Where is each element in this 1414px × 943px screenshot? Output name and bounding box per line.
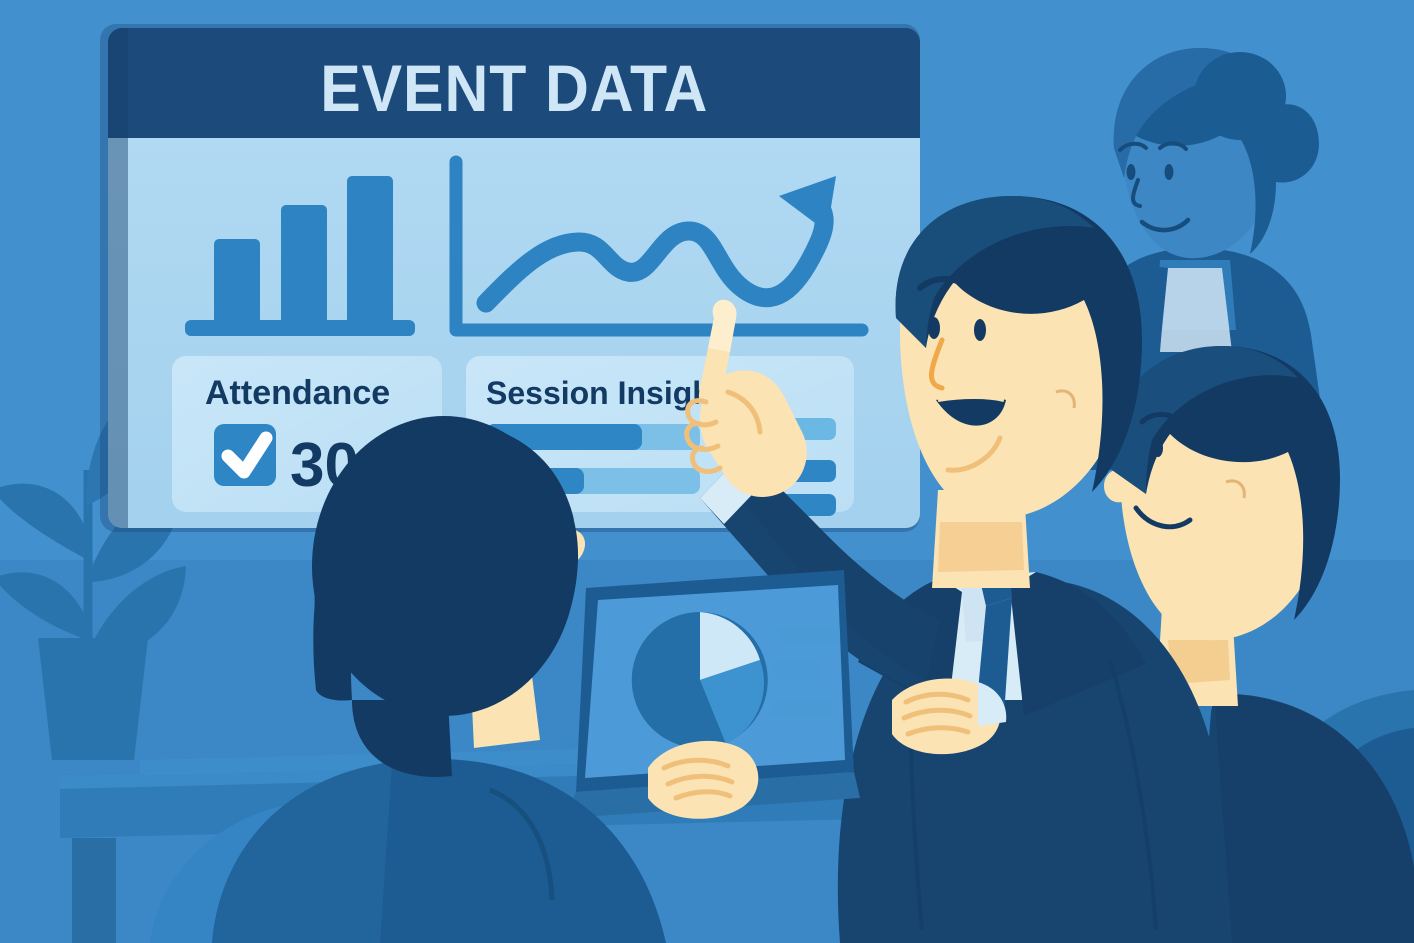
attendance-card-title: Attendance: [205, 374, 390, 412]
legend-bar-3: [770, 698, 832, 716]
legend-bar-1: [778, 628, 840, 646]
woman-hair-bun: [1194, 52, 1286, 140]
board-title: EVENT DATA: [320, 53, 708, 126]
woman-hand-on-laptop: [648, 741, 758, 819]
illustration-canvas: EVENT DATA Attendance 300: [0, 0, 1414, 943]
legend-bar-2: [774, 662, 820, 680]
pie-chart: [632, 612, 768, 748]
